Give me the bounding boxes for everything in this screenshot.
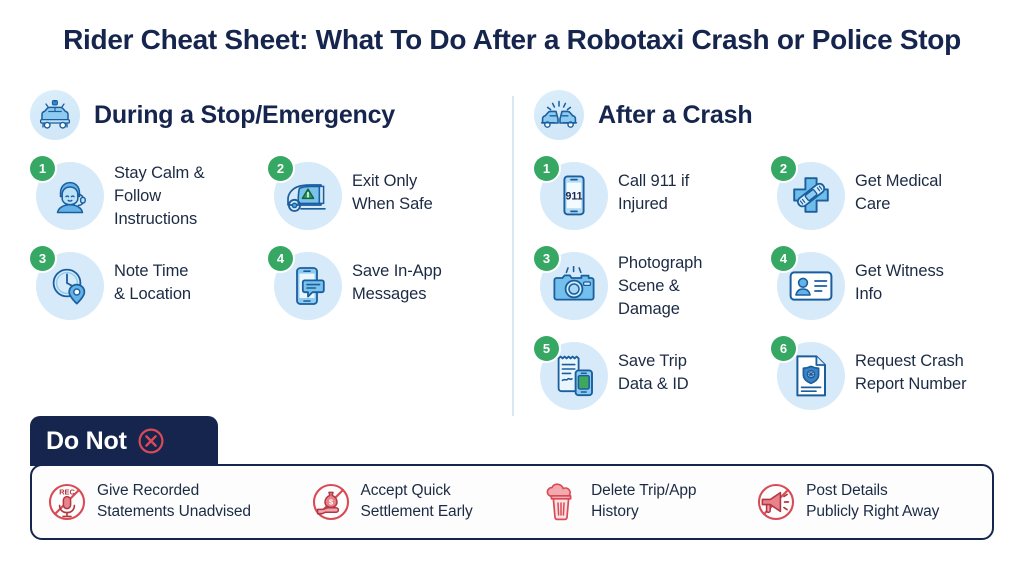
step-label-line: Note Time [114,262,188,280]
do-not-tab-label: Do Not [46,427,127,456]
step-grid-left: 1 Stay Calm & [30,154,502,330]
step-item: 4 Save In-App Messages [268,244,502,330]
do-not-label-line: History [591,503,639,520]
step-item: 4 Get Witness Info [771,244,1004,330]
step-label-line: Info [855,285,882,303]
step-label: Photograph Scene & Damage [618,244,702,320]
do-not-label-line: Post Details [806,482,888,499]
step-label: Save In-App Messages [352,244,442,306]
step-label-line: Damage [618,300,680,318]
step-label: Stay Calm & Follow Instructions [114,154,205,230]
step-number-badge: 3 [30,246,55,271]
do-not-label-line: Accept Quick [361,482,451,499]
step-label: Save Trip Data & ID [618,334,689,396]
rec-label-text: REC [59,488,75,497]
step-number-badge: 2 [268,156,293,181]
do-not-label: Post Details Publicly Right Away [806,481,939,523]
step-number-badge: 4 [268,246,293,271]
trash-can-icon [540,481,582,523]
step-label-line: Get Medical [855,172,942,190]
step-label: Call 911 if Injured [618,154,689,216]
do-not-label-line: Delete Trip/App [591,482,696,499]
step-label-line: Care [855,195,890,213]
step-item: 6 Request Crash Report N [771,334,1004,420]
no-megaphone-icon [755,481,797,523]
no-money-hand-icon: $ [310,481,352,523]
do-not-tab: Do Not [30,416,218,466]
do-not-box: REC Give Recorded Statements Unadvised $ [30,464,994,540]
step-label-line: Get Witness [855,262,944,280]
step-item: 3 Note Time & Location [30,244,264,330]
phone-911-icon-text: 911 [565,191,582,203]
section-header: After a Crash [534,88,1004,142]
section-after-a-crash: After a Crash 1 911 [534,88,1004,420]
page-title: Rider Cheat Sheet: What To Do After a Ro… [0,24,1024,56]
do-not-item: Delete Trip/App History [540,481,755,523]
step-item: 1 Stay Calm & [30,154,264,240]
step-label: Request Crash Report Number [855,334,967,396]
do-not-label: Give Recorded Statements Unadvised [97,481,251,523]
do-not-item: REC Give Recorded Statements Unadvised [46,481,310,523]
step-label-line: Request Crash [855,352,964,370]
step-label: Get Witness Info [855,244,944,306]
circled-x-icon [137,427,165,455]
step-label-line: Save In-App [352,262,442,280]
step-number-badge: 5 [534,336,559,361]
do-not-label: Accept Quick Settlement Early [361,481,473,523]
section-during-a-stop: During a Stop/Emergency 1 [30,88,502,330]
step-item: 5 Save Trip Data & ID [534,334,767,420]
car-crash-icon [534,90,584,140]
infographic-page: Rider Cheat Sheet: What To Do After a Ro… [0,0,1024,572]
step-label: Get Medical Care [855,154,942,216]
step-label: Exit Only When Safe [352,154,433,216]
step-number-badge: 4 [771,246,796,271]
step-label-line: Data & ID [618,375,689,393]
step-number-badge: 6 [771,336,796,361]
section-title: After a Crash [598,101,752,130]
do-not-label-line: Publicly Right Away [806,503,939,520]
section-header: During a Stop/Emergency [30,88,502,142]
no-recording-mic-icon: REC [46,481,88,523]
step-label-line: Exit Only [352,172,417,190]
step-item: 1 911 Call 911 if Injured [534,154,767,240]
step-label-line: Report Number [855,375,967,393]
police-car-icon [30,90,80,140]
section-title: During a Stop/Emergency [94,101,395,130]
do-not-panel: Do Not REC [30,416,994,540]
do-not-item: $ Accept Quick Settlement Early [310,481,541,523]
column-divider [512,96,514,416]
step-label-line: Injured [618,195,668,213]
step-number-badge: 1 [30,156,55,181]
step-item: 3 Photograph Scene & Damage [534,244,767,330]
step-label-line: & Location [114,285,191,303]
do-not-label-line: Statements Unadvised [97,503,251,520]
step-label: Note Time & Location [114,244,191,306]
step-label-line: Call 911 if [618,172,689,190]
step-number-badge: 1 [534,156,559,181]
step-label-line: Messages [352,285,426,303]
step-number-badge: 2 [771,156,796,181]
do-not-label-line: Give Recorded [97,482,199,499]
do-not-label: Delete Trip/App History [591,481,696,523]
step-label-line: Follow [114,187,161,205]
step-label-line: Instructions [114,210,197,228]
step-label-line: Save Trip [618,352,687,370]
step-item: 2 Get Medical Care [771,154,1004,240]
step-grid-right: 1 911 Call 911 if Injured [534,154,1004,420]
do-not-label-line: Settlement Early [361,503,473,520]
step-label-line: When Safe [352,195,433,213]
do-not-item: Post Details Publicly Right Away [755,481,978,523]
step-label-line: Scene & [618,277,680,295]
step-number-badge: 3 [534,246,559,271]
step-label-line: Photograph [618,254,702,272]
step-label-line: Stay Calm & [114,164,205,182]
step-item: 2 [268,154,502,240]
